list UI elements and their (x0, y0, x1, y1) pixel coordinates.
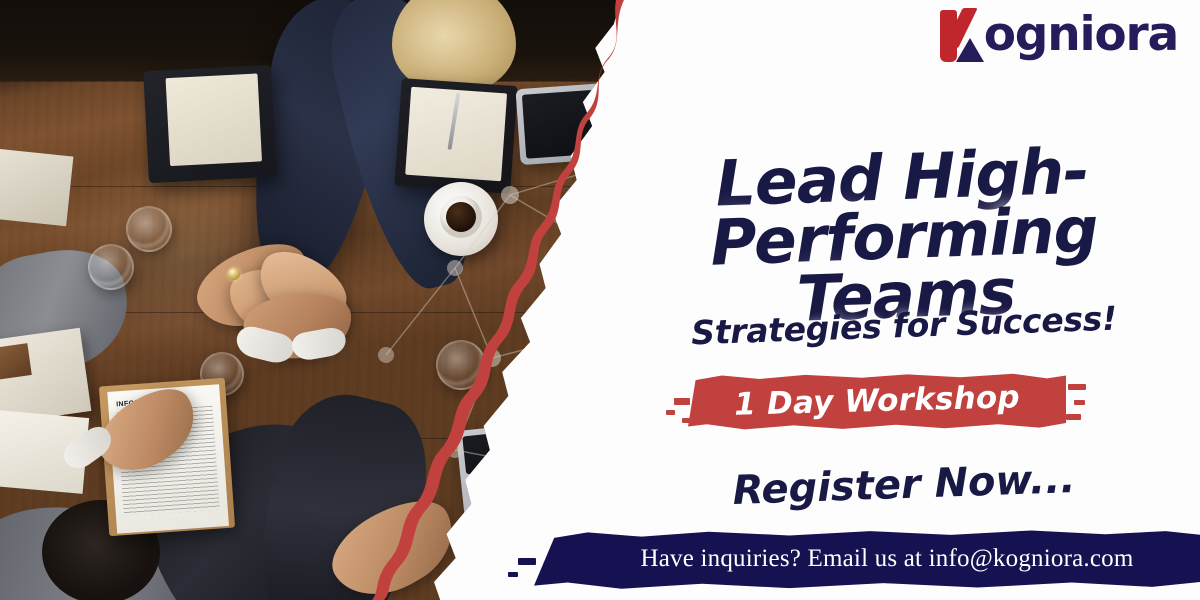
contact-text: Have inquiries? Email us at info@kognior… (534, 528, 1200, 590)
brush-speck (666, 410, 675, 415)
register-now-cta[interactable]: Register Now... (607, 452, 1200, 519)
hero-photo: INFORMATION (0, 0, 620, 600)
photo-background: INFORMATION (0, 0, 620, 600)
k-monogram-icon (936, 6, 988, 62)
brush-speck (508, 572, 518, 577)
network-graphic-overlay (0, 0, 620, 600)
badge-label: 1 Day Workshop (687, 367, 1066, 435)
k-triangle-shape (956, 38, 984, 62)
content-panel: ogniora Lead High- Performing Teams Stra… (600, 0, 1200, 600)
contact-footer-band: Have inquiries? Email us at info@kognior… (534, 528, 1200, 590)
workshop-duration-badge: 1 Day Workshop (688, 372, 1066, 430)
brush-speck (1074, 400, 1085, 405)
event-promo-banner: INFORMATION (0, 0, 1200, 600)
brand-name: ogniora (984, 7, 1178, 62)
brush-speck (1068, 384, 1086, 390)
brand-logo[interactable]: ogniora (936, 6, 1178, 62)
brush-speck (1066, 414, 1081, 420)
